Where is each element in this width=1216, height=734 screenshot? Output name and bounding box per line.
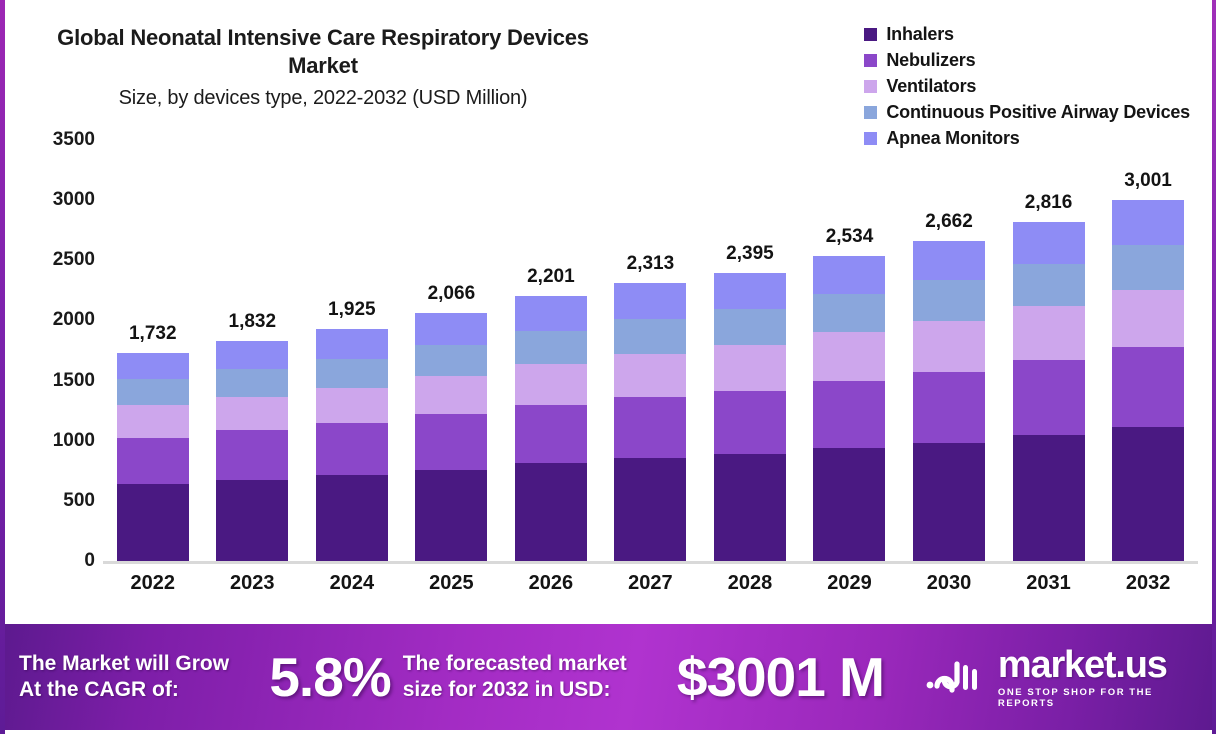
legend-swatch-icon [864, 106, 877, 119]
x-axis-tick-label: 2032 [1112, 572, 1184, 595]
bar-column[interactable]: 2,395 [714, 140, 786, 561]
bar-segment[interactable] [415, 414, 487, 469]
x-axis-tick-label: 2024 [316, 572, 388, 595]
bar-segment[interactable] [515, 364, 587, 405]
bar-column[interactable]: 1,925 [316, 140, 388, 561]
legend-swatch-icon [864, 80, 877, 93]
bar-segment[interactable] [216, 369, 288, 397]
bar-segment[interactable] [117, 379, 189, 405]
chart-subtitle: Size, by devices type, 2022-2032 (USD Mi… [23, 87, 623, 110]
bar-segment[interactable] [117, 484, 189, 561]
bar-column[interactable]: 2,534 [813, 140, 885, 561]
legend-item-label: Continuous Positive Airway Devices [886, 102, 1190, 123]
bar-stack [415, 313, 487, 562]
y-axis-tick-label: 1500 [17, 370, 95, 392]
legend-item[interactable]: Inhalers [864, 24, 1190, 45]
bar-segment[interactable] [913, 280, 985, 320]
bar-segment[interactable] [913, 443, 985, 561]
bar-segment[interactable] [813, 448, 885, 561]
bar-segment[interactable] [913, 321, 985, 372]
bar-stack [913, 241, 985, 561]
bar-segment[interactable] [117, 405, 189, 438]
bar-segment[interactable] [415, 345, 487, 376]
bar-segment[interactable] [117, 353, 189, 379]
bar-segment[interactable] [1013, 306, 1085, 360]
bar-column[interactable]: 2,066 [415, 140, 487, 561]
bar-column[interactable]: 2,313 [614, 140, 686, 561]
bar-segment[interactable] [515, 463, 587, 561]
bar-segment[interactable] [1013, 360, 1085, 435]
bar-segment[interactable] [913, 241, 985, 281]
plot-area: 3500300025002000150010005000 1,7321,8321… [5, 140, 1212, 610]
bar-stack [1112, 200, 1184, 561]
cagr-caption-line1: The Market will Grow [19, 651, 269, 677]
bar-total-label: 1,925 [328, 299, 376, 321]
y-axis-tick-label: 2500 [17, 249, 95, 271]
bar-total-label: 2,395 [726, 243, 774, 265]
logo-tagline: ONE STOP SHOP FOR THE REPORTS [998, 687, 1212, 709]
bar-segment[interactable] [813, 332, 885, 381]
forecast-caption-line1: The forecasted market [403, 651, 677, 677]
bar-total-label: 2,066 [428, 283, 476, 305]
legend-swatch-icon [864, 54, 877, 67]
legend-item[interactable]: Ventilators [864, 76, 1190, 97]
cagr-caption-line2: At the CAGR of: [19, 677, 269, 703]
bar-segment[interactable] [1013, 435, 1085, 561]
bar-segment[interactable] [813, 294, 885, 332]
cagr-caption: The Market will Grow At the CAGR of: [19, 651, 269, 702]
market-us-logo-mark-icon [926, 655, 986, 700]
bar-segment[interactable] [1112, 290, 1184, 348]
bar-column[interactable]: 3,001 [1112, 140, 1184, 561]
y-axis-tick-label: 2000 [17, 309, 95, 331]
bar-column[interactable]: 2,816 [1013, 140, 1085, 561]
bar-total-label: 1,732 [129, 323, 177, 345]
x-axis-tick-label: 2029 [813, 572, 885, 595]
legend-item-label: Inhalers [886, 24, 953, 45]
legend-swatch-icon [864, 28, 877, 41]
bar-segment[interactable] [1112, 347, 1184, 427]
bar-stack [216, 341, 288, 561]
bar-column[interactable]: 1,832 [216, 140, 288, 561]
bar-segment[interactable] [614, 354, 686, 397]
bar-segment[interactable] [415, 376, 487, 414]
bar-segment[interactable] [813, 381, 885, 448]
x-axis-tick-label: 2026 [515, 572, 587, 595]
x-axis-tick-label: 2031 [1013, 572, 1085, 595]
bar-column[interactable]: 2,662 [913, 140, 985, 561]
bar-total-label: 2,662 [925, 211, 973, 233]
summary-banner: The Market will Grow At the CAGR of: 5.8… [5, 624, 1212, 730]
right-border-accent [1212, 0, 1216, 734]
bar-segment[interactable] [813, 256, 885, 293]
bar-segment[interactable] [614, 319, 686, 354]
bar-total-label: 3,001 [1124, 170, 1172, 192]
bar-segment[interactable] [515, 331, 587, 364]
bar-segment[interactable] [316, 329, 388, 358]
bar-segment[interactable] [1112, 427, 1184, 561]
bar-total-label: 2,534 [826, 226, 874, 248]
bar-column[interactable]: 2,201 [515, 140, 587, 561]
bar-segment[interactable] [515, 296, 587, 331]
bar-stack [614, 283, 686, 561]
bar-segment[interactable] [415, 313, 487, 345]
bar-stack [714, 273, 786, 561]
bar-column[interactable]: 1,732 [117, 140, 189, 561]
cagr-value: 5.8% [269, 645, 390, 709]
x-axis-tick-label: 2022 [117, 572, 189, 595]
bar-stack [813, 256, 885, 561]
bar-total-label: 2,313 [627, 253, 675, 275]
y-axis-tick-label: 3500 [17, 129, 95, 151]
y-axis-tick-label: 0 [17, 550, 95, 572]
bar-stack [515, 296, 587, 561]
y-axis-tick-label: 1000 [17, 430, 95, 452]
bar-segment[interactable] [316, 423, 388, 475]
bar-segment[interactable] [1112, 200, 1184, 245]
bar-total-label: 2,816 [1025, 192, 1073, 214]
bar-segment[interactable] [614, 283, 686, 319]
bar-segment[interactable] [614, 458, 686, 561]
x-axis: 2022202320242025202620272028202920302031… [103, 572, 1198, 595]
bar-segment[interactable] [714, 454, 786, 561]
y-axis-tick-label: 3000 [17, 189, 95, 211]
title-block: Global Neonatal Intensive Care Respirato… [23, 24, 623, 110]
bar-segment[interactable] [1112, 245, 1184, 290]
forecast-caption-line2: size for 2032 in USD: [403, 677, 677, 703]
bar-segment[interactable] [714, 309, 786, 345]
y-axis-tick-label: 500 [17, 490, 95, 512]
bar-segment[interactable] [316, 388, 388, 424]
logo-name: market.us [998, 646, 1212, 684]
market-us-logo[interactable]: market.us ONE STOP SHOP FOR THE REPORTS [926, 646, 1212, 709]
bar-segment[interactable] [216, 480, 288, 561]
bar-stack [117, 353, 189, 561]
legend-item[interactable]: Nebulizers [864, 50, 1190, 71]
bar-segment[interactable] [714, 273, 786, 309]
y-axis: 3500300025002000150010005000 [17, 140, 95, 561]
x-axis-tick-label: 2027 [614, 572, 686, 595]
forecast-caption: The forecasted market size for 2032 in U… [403, 651, 677, 702]
bar-total-label: 1,832 [229, 311, 277, 333]
bar-total-label: 2,201 [527, 266, 575, 288]
chart-legend: InhalersNebulizersVentilatorsContinuous … [864, 24, 1190, 154]
x-axis-tick-label: 2025 [415, 572, 487, 595]
chart-panel: Global Neonatal Intensive Care Respirato… [5, 0, 1212, 620]
x-axis-tick-label: 2030 [913, 572, 985, 595]
bar-segment[interactable] [216, 397, 288, 431]
bar-segment[interactable] [1013, 264, 1085, 306]
legend-item[interactable]: Continuous Positive Airway Devices [864, 102, 1190, 123]
legend-item-label: Ventilators [886, 76, 976, 97]
bar-segment[interactable] [117, 438, 189, 484]
x-axis-line [103, 561, 1198, 564]
bar-stack [1013, 222, 1085, 561]
bar-segment[interactable] [614, 397, 686, 458]
chart-title: Global Neonatal Intensive Care Respirato… [23, 24, 623, 80]
bar-segment[interactable] [415, 470, 487, 561]
bar-segment[interactable] [913, 372, 985, 443]
x-axis-tick-label: 2028 [714, 572, 786, 595]
bar-segment[interactable] [316, 359, 388, 388]
bar-segment[interactable] [1013, 222, 1085, 264]
bar-segment[interactable] [216, 341, 288, 369]
bar-segment[interactable] [216, 430, 288, 479]
bar-stack [316, 329, 388, 561]
x-axis-tick-label: 2023 [216, 572, 288, 595]
forecast-value: $3001 M [677, 645, 884, 709]
bar-segment[interactable] [714, 391, 786, 455]
bar-segment[interactable] [316, 475, 388, 561]
bar-series-group: 1,7321,8321,9252,0662,2012,3132,3952,534… [103, 140, 1198, 561]
chart-infographic: Global Neonatal Intensive Care Respirato… [0, 0, 1216, 734]
legend-item-label: Nebulizers [886, 50, 975, 71]
bar-segment[interactable] [515, 405, 587, 463]
bar-segment[interactable] [714, 345, 786, 391]
